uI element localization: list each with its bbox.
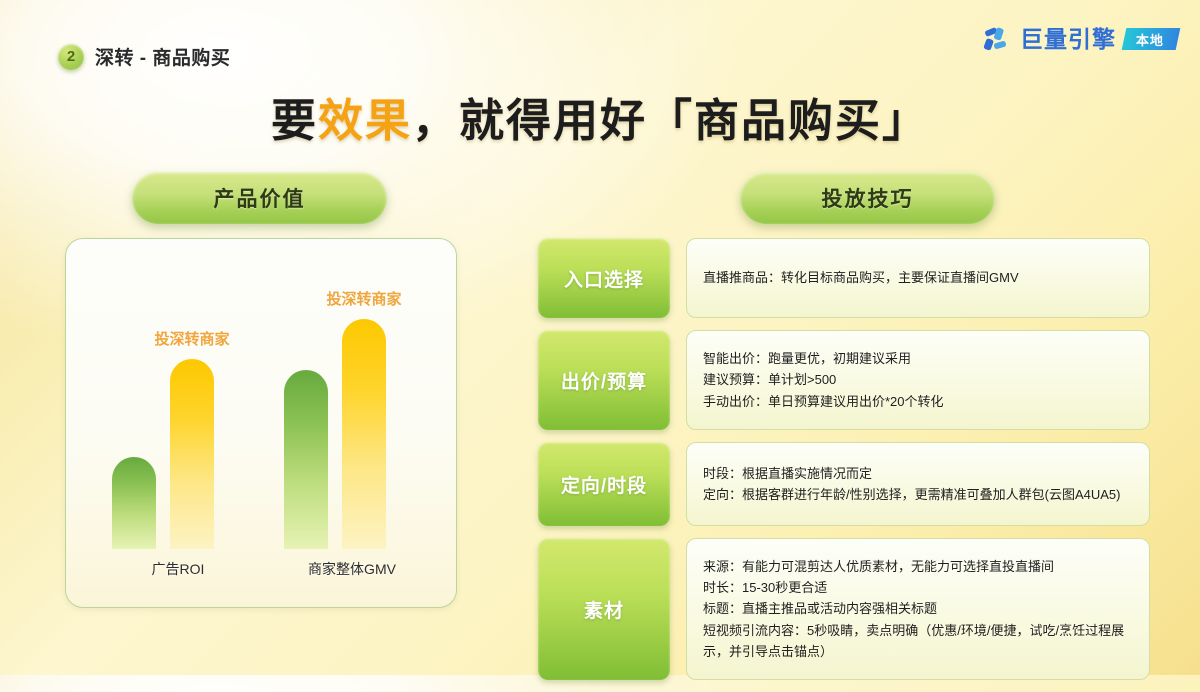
tip-line: 手动出价：单日预算建议用出价*20个转化	[703, 391, 1133, 412]
tip-line: 定向：根据客群进行年龄/性别选择，更需精准可叠加人群包(云图A4UA5)	[703, 484, 1133, 505]
bar-yellow: 投深转商家	[170, 359, 214, 549]
tip-line: 智能出价：跑量更优，初期建议采用	[703, 348, 1133, 369]
tip-body: 时段：根据直播实施情况而定 定向：根据客群进行年龄/性别选择，更需精准可叠加人群…	[686, 442, 1150, 526]
tip-line: 时长：15-30秒更合适	[703, 577, 1133, 598]
title-suffix: ，就得用好「商品购买」	[412, 95, 929, 146]
tip-line: 直播推商品：转化目标商品购买，主要保证直播间GMV	[703, 267, 1133, 288]
brand-name: 巨量引擎	[1020, 28, 1116, 51]
brand-chip-label: 本地	[1136, 30, 1164, 49]
section-pill-delivery-tips: 投放技巧	[740, 172, 995, 224]
tip-key-entry-selection: 入口选择	[538, 238, 670, 318]
tip-row: 素材 来源：有能力可混剪达人优质素材，无能力可选择直投直播间 时长：15-30秒…	[538, 538, 1150, 680]
tip-key-creative: 素材	[538, 538, 670, 680]
section-pill-product-value: 产品价值	[132, 172, 387, 224]
title-prefix: 要	[271, 95, 318, 146]
bar-chart-category-axis: 广告ROI 商家整体GMV	[66, 559, 456, 585]
tip-line: 短视频引流内容：5秒吸睛，卖点明确（优惠/环境/便捷，试吃/烹饪过程展示，并引导…	[703, 620, 1133, 662]
tip-row: 定向/时段 时段：根据直播实施情况而定 定向：根据客群进行年龄/性别选择，更需精…	[538, 442, 1150, 526]
page-title: 要效果，就得用好「商品购买」	[0, 84, 1200, 149]
delivery-tips-list: 入口选择 直播推商品：转化目标商品购买，主要保证直播间GMV 出价/预算 智能出…	[538, 238, 1150, 692]
slide-root: 2 深转 - 商品购买 巨量引擎 本地 要效果，就得用好「商品购买」 产品价值 …	[0, 0, 1200, 675]
tip-row: 入口选择 直播推商品：转化目标商品购买，主要保证直播间GMV	[538, 238, 1150, 318]
category-label: 广告ROI	[152, 559, 205, 579]
tip-line: 来源：有能力可混剪达人优质素材，无能力可选择直投直播间	[703, 556, 1133, 577]
category-label: 商家整体GMV	[308, 559, 396, 579]
bar-annotation: 投深转商家	[326, 288, 401, 309]
bar-green	[284, 370, 328, 549]
tip-body: 来源：有能力可混剪达人优质素材，无能力可选择直投直播间 时长：15-30秒更合适…	[686, 538, 1150, 680]
tip-line: 建议预算：单计划>500	[703, 369, 1133, 390]
tip-body: 智能出价：跑量更优，初期建议采用 建议预算：单计划>500 手动出价：单日预算建…	[686, 330, 1150, 430]
bar-group: 投深转商家	[112, 359, 214, 549]
tip-key-bid-budget: 出价/预算	[538, 330, 670, 430]
bar-annotation: 投深转商家	[154, 328, 229, 349]
tip-row: 出价/预算 智能出价：跑量更优，初期建议采用 建议预算：单计划>500 手动出价…	[538, 330, 1150, 430]
bar-chart-card: 投深转商家 投深转商家 广告ROI 商家整体GMV	[65, 238, 457, 608]
tip-key-targeting-schedule: 定向/时段	[538, 442, 670, 526]
bar-yellow: 投深转商家	[342, 319, 386, 549]
step-number-badge: 2	[58, 44, 84, 70]
slide-kicker: 2 深转 - 商品购买	[58, 43, 230, 70]
brand-logo: 巨量引擎 本地	[982, 24, 1178, 54]
title-highlight: 效果	[318, 95, 412, 146]
kicker-label: 深转 - 商品购买	[95, 43, 230, 70]
brand-chip-local: 本地	[1122, 28, 1181, 50]
tip-body: 直播推商品：转化目标商品购买，主要保证直播间GMV	[686, 238, 1150, 318]
tip-line: 标题：直播主推品或活动内容强相关标题	[703, 598, 1133, 619]
tip-line: 时段：根据直播实施情况而定	[703, 463, 1133, 484]
bar-chart-plot: 投深转商家 投深转商家	[66, 261, 456, 549]
juliang-engine-logo-icon	[982, 24, 1012, 54]
bar-green	[112, 457, 156, 549]
bar-group: 投深转商家	[284, 319, 386, 549]
